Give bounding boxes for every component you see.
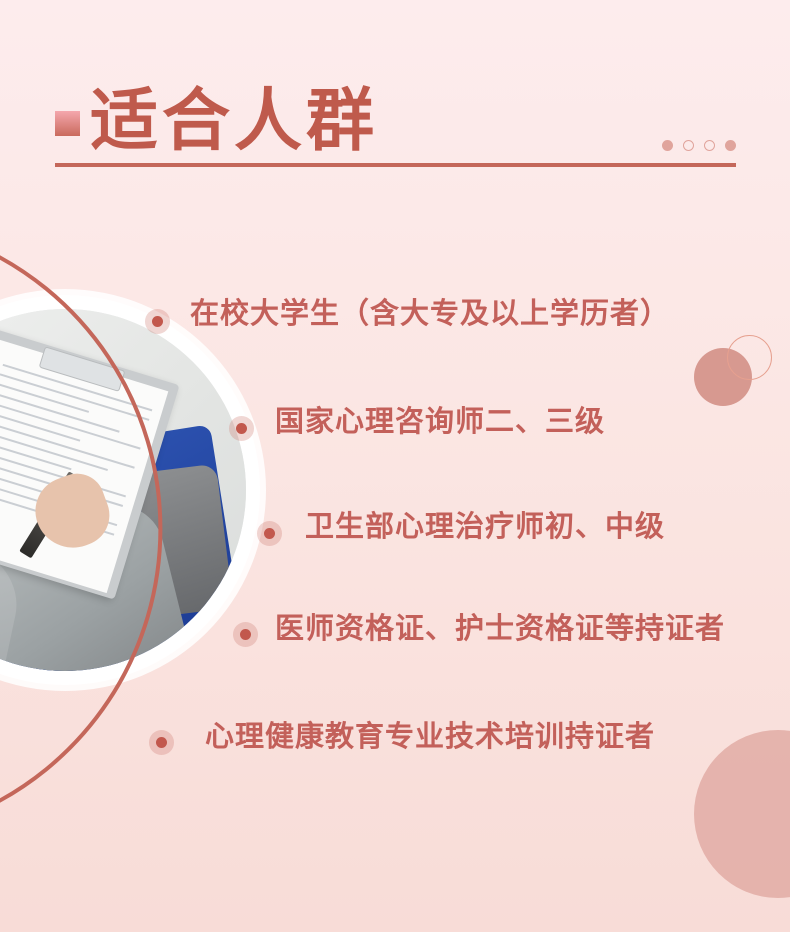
list-item-5: 心理健康教育专业技术培训持证者 bbox=[205, 723, 655, 752]
list-item-4: 医师资格证、护士资格证等持证者 bbox=[275, 615, 725, 644]
list-item-3: 卫生部心理治疗师初、中级 bbox=[305, 513, 665, 542]
list-item-2: 国家心理咨询师二、三级 bbox=[275, 408, 605, 437]
list-bullet-icon-4 bbox=[240, 629, 251, 640]
poster-canvas: 适合人群 bbox=[0, 0, 790, 932]
list-item-1: 在校大学生（含大专及以上学历者） bbox=[190, 300, 670, 329]
list-bullet-icon-2 bbox=[236, 423, 247, 434]
audience-list: 在校大学生（含大专及以上学历者） 国家心理咨询师二、三级 卫生部心理治疗师初、中… bbox=[0, 0, 790, 932]
list-bullet-icon-3 bbox=[264, 528, 275, 539]
list-bullet-icon-5 bbox=[156, 737, 167, 748]
list-bullet-icon-1 bbox=[152, 316, 163, 327]
